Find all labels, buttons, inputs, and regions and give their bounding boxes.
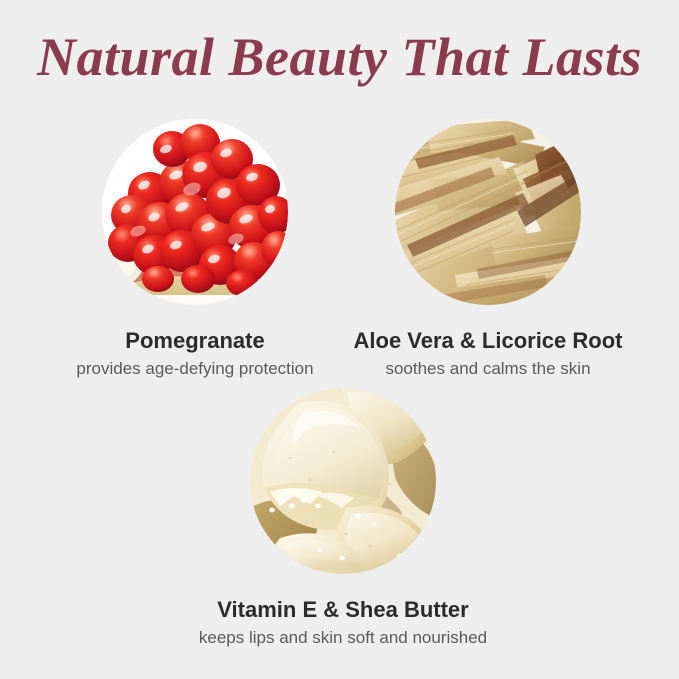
page-title: Natural Beauty That Lasts <box>0 28 679 87</box>
ingredient-name: Aloe Vera & Licorice Root <box>338 328 638 353</box>
ingredient-name: Pomegranate <box>52 328 338 353</box>
pomegranate-image <box>102 119 288 305</box>
ingredient-description: soothes and calms the skin <box>338 359 638 379</box>
ingredient-name: Vitamin E & Shea Butter <box>190 597 496 622</box>
ingredient-description: provides age-defying protection <box>52 359 338 379</box>
ingredient-card-vitamin-e-shea-butter: Vitamin E & Shea Butter keeps lips and s… <box>190 388 496 648</box>
product-ingredients-infographic: Natural Beauty That Lasts <box>0 0 679 679</box>
shea-butter-image <box>250 388 436 574</box>
ingredient-description: keeps lips and skin soft and nourished <box>190 628 496 648</box>
licorice-root-image <box>395 119 581 305</box>
ingredient-card-pomegranate: Pomegranate provides age-defying protect… <box>52 119 338 379</box>
ingredient-card-aloe-vera-licorice-root: Aloe Vera & Licorice Root soothes and ca… <box>338 119 638 379</box>
